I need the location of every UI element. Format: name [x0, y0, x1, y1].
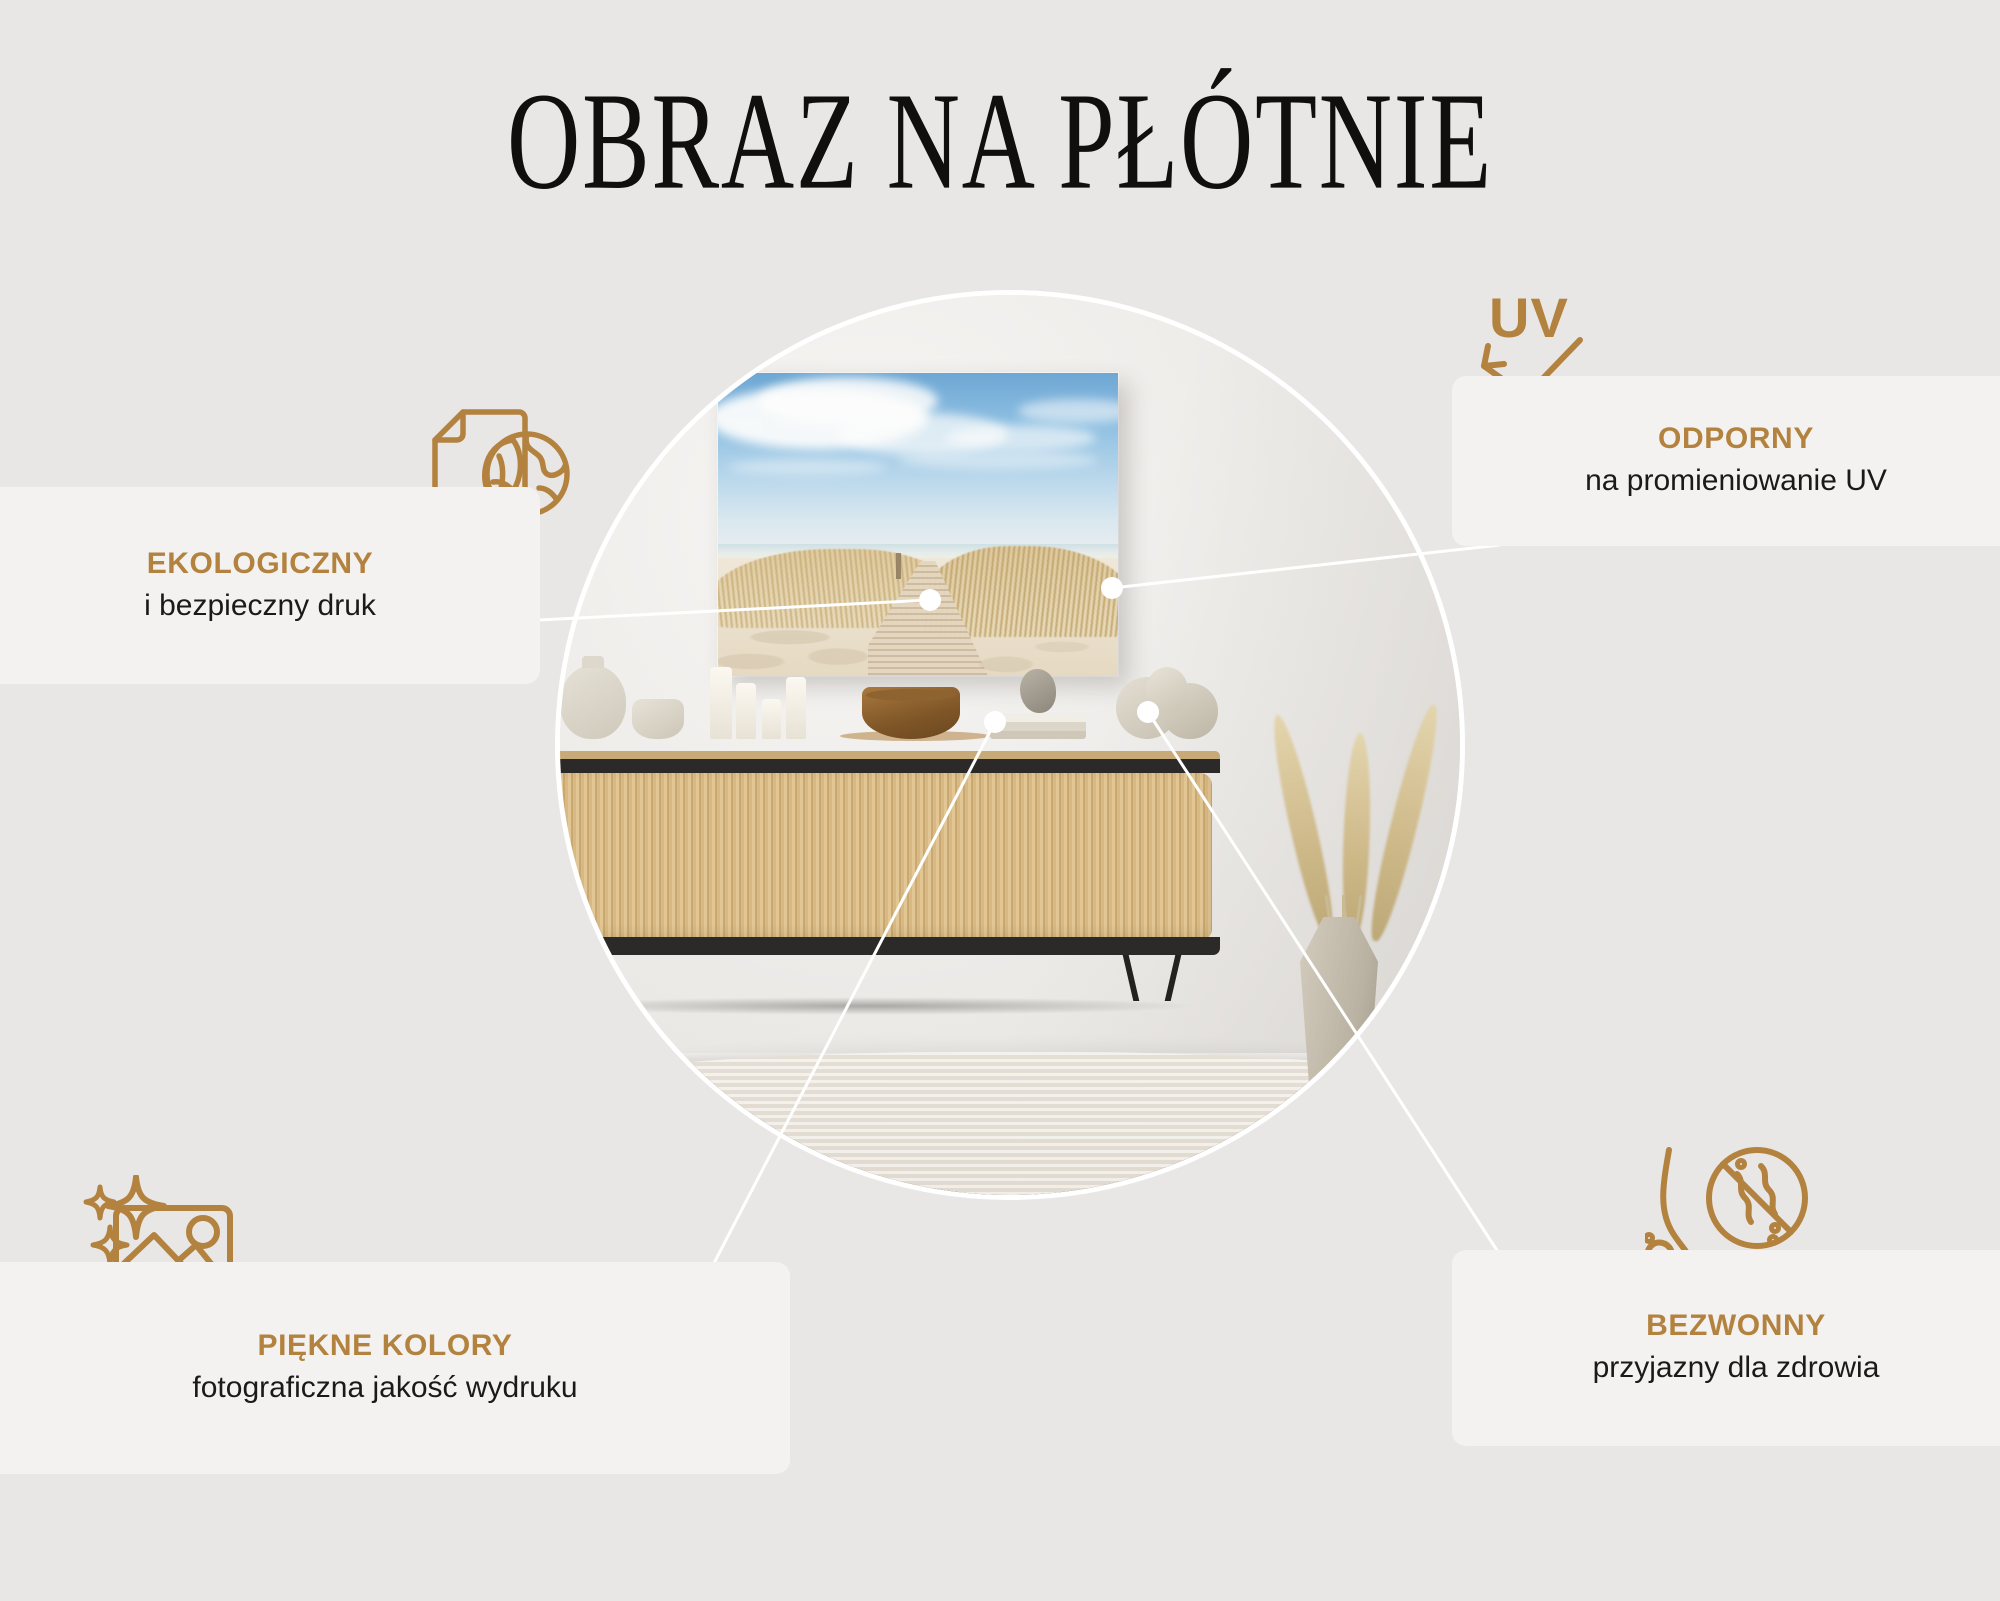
- feature-subtitle: fotograficzna jakość wydruku: [0, 1369, 790, 1407]
- page-title: OBRAZ NA PŁÓTNIE: [140, 72, 1860, 211]
- product-scene-circle: [560, 295, 1460, 1195]
- sideboard-top: [560, 751, 1220, 773]
- artwork-fence-post: [896, 553, 901, 579]
- decor-bronze-bowl: [862, 687, 960, 739]
- feature-panel-ekologiczny: EKOLOGICZNY i bezpieczny druk: [0, 487, 540, 684]
- decor-stone: [1020, 669, 1056, 713]
- feature-panel-bezwonny: BEZWONNY przyjazny dla zdrowia: [1452, 1250, 2000, 1446]
- feature-subtitle: i bezpieczny druk: [0, 587, 540, 625]
- decor-vase-round: [1146, 667, 1188, 713]
- decor-candle: [710, 667, 732, 739]
- cloud: [946, 425, 1096, 451]
- decor-candle: [786, 677, 806, 739]
- decor-candle: [736, 683, 756, 739]
- decor-vase-large: [560, 665, 626, 739]
- feature-title: BEZWONNY: [1452, 1309, 2000, 1342]
- decor-books: [990, 713, 1086, 739]
- feature-panel-odporny: ODPORNY na promieniowanie UV: [1452, 376, 2000, 546]
- canvas-artwork: [718, 373, 1118, 676]
- sideboard-base: [560, 937, 1220, 955]
- floor-vase: [1300, 917, 1378, 1089]
- sideboard-shadow: [560, 997, 1200, 1015]
- room-photo: [560, 295, 1460, 1195]
- feature-panel-piekne-kolory: PIĘKNE KOLORY fotograficzna jakość wydru…: [0, 1262, 790, 1474]
- feature-title: EKOLOGICZNY: [0, 547, 540, 580]
- artwork-sand-footprints: [718, 579, 1118, 676]
- sideboard-fluted-front: [560, 773, 1212, 941]
- decor-bowl-small: [632, 699, 684, 739]
- sideboard: [560, 751, 1220, 981]
- cloud: [728, 459, 888, 475]
- feature-title: PIĘKNE KOLORY: [0, 1329, 790, 1362]
- decor-candle: [762, 699, 781, 739]
- cloud: [898, 451, 1098, 469]
- feature-subtitle: przyjazny dla zdrowia: [1452, 1349, 2000, 1387]
- feature-title: ODPORNY: [1452, 422, 2000, 455]
- feature-subtitle: na promieniowanie UV: [1452, 462, 2000, 500]
